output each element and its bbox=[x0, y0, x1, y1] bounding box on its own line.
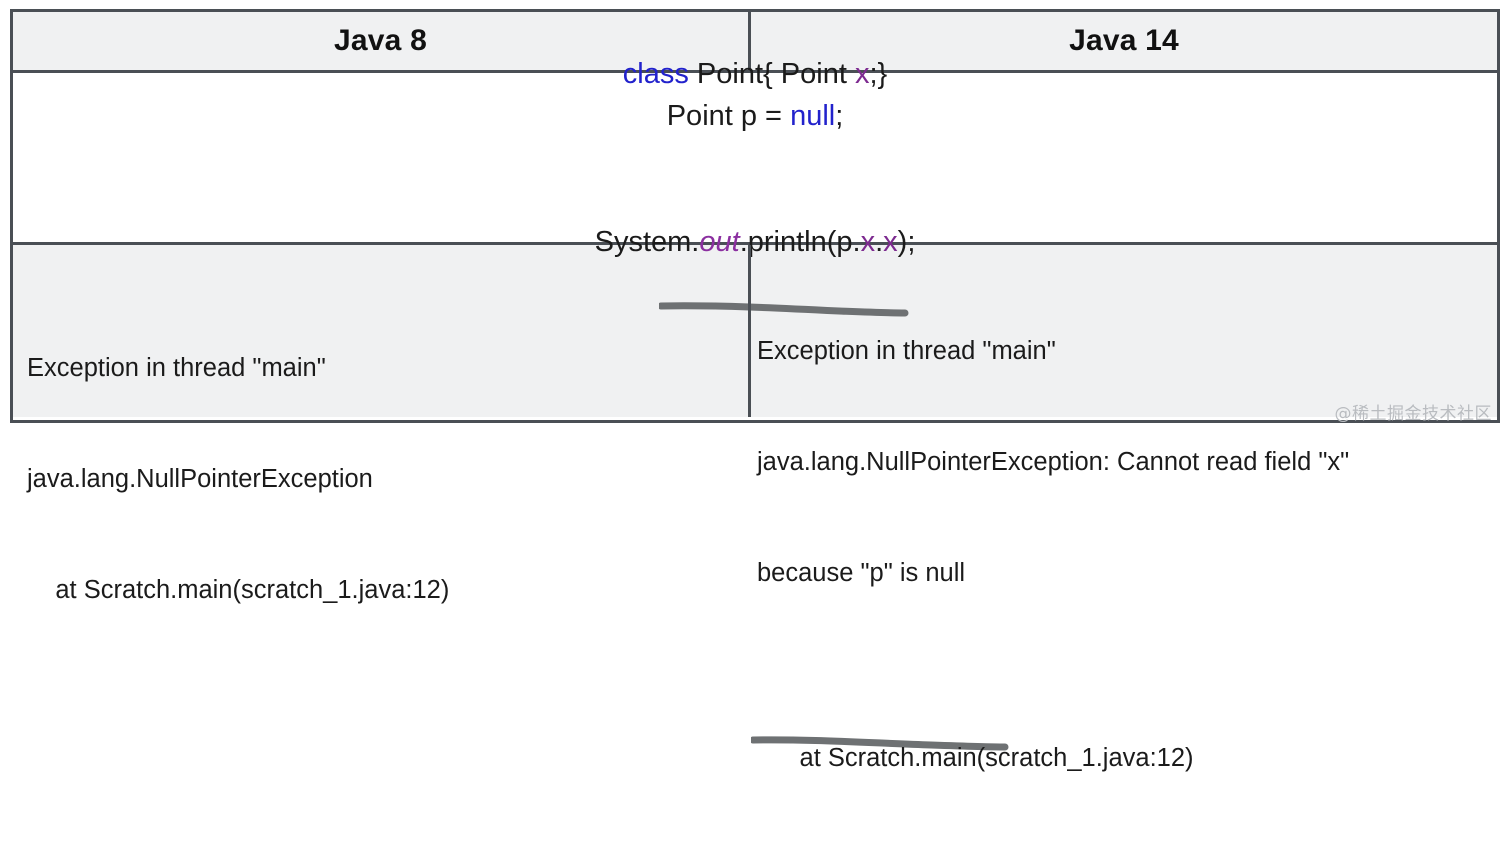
java-code-snippet: class Point{ Point x;} Point p = null; S… bbox=[13, 73, 1497, 246]
stacktrace-java8-line-1: Exception in thread "main" bbox=[27, 350, 748, 387]
code-keyword-class: class bbox=[623, 58, 689, 90]
code-line2-tail: ; bbox=[835, 100, 843, 132]
annotation-underline-because-p-is-null bbox=[751, 662, 1011, 678]
code-line1-tail: ;} bbox=[869, 58, 887, 90]
code-line2-lead: Point p = bbox=[667, 100, 790, 132]
stacktrace-java8-line-2: java.lang.NullPointerException bbox=[27, 461, 748, 498]
output-cell-java8: Exception in thread "main" java.lang.Nul… bbox=[13, 245, 748, 417]
code-cell-merged: class Point{ Point x;} Point p = null; S… bbox=[13, 73, 1497, 242]
code-line1-body: Point{ Point bbox=[689, 58, 855, 90]
stacktrace-java8: Exception in thread "main" java.lang.Nul… bbox=[13, 245, 748, 683]
code-line-1: class Point{ Point x;} bbox=[623, 53, 887, 95]
java-version-comparison-table: Java 8 Java 14 class Point{ Point x;} Po… bbox=[10, 9, 1500, 423]
stacktrace-java14-line-1: Exception in thread "main" bbox=[757, 333, 1497, 370]
stacktrace-java8-line-3: at Scratch.main(scratch_1.java:12) bbox=[27, 572, 748, 609]
code-field-x-decl: x bbox=[855, 58, 870, 90]
code-line-2: Point p = null; bbox=[667, 95, 844, 221]
code-keyword-null: null bbox=[790, 100, 835, 132]
stacktrace-java14-line-2: java.lang.NullPointerException: Cannot r… bbox=[757, 444, 1497, 481]
table-code-row: class Point{ Point x;} Point p = null; S… bbox=[13, 73, 1497, 245]
screenshot-root: Java 8 Java 14 class Point{ Point x;} Po… bbox=[0, 0, 1512, 436]
stacktrace-java14-line-3-text: because "p" is null bbox=[757, 559, 965, 587]
table-output-row: Exception in thread "main" java.lang.Nul… bbox=[13, 245, 1497, 417]
stacktrace-java14-line-4: at Scratch.main(scratch_1.java:12) bbox=[757, 740, 1497, 777]
watermark: @稀土掘金技术社区 bbox=[1335, 399, 1493, 424]
stacktrace-java14: Exception in thread "main" java.lang.Nul… bbox=[751, 245, 1497, 851]
output-cell-java14: Exception in thread "main" java.lang.Nul… bbox=[748, 245, 1497, 417]
stacktrace-java14-line-3: because "p" is null bbox=[757, 555, 1497, 666]
